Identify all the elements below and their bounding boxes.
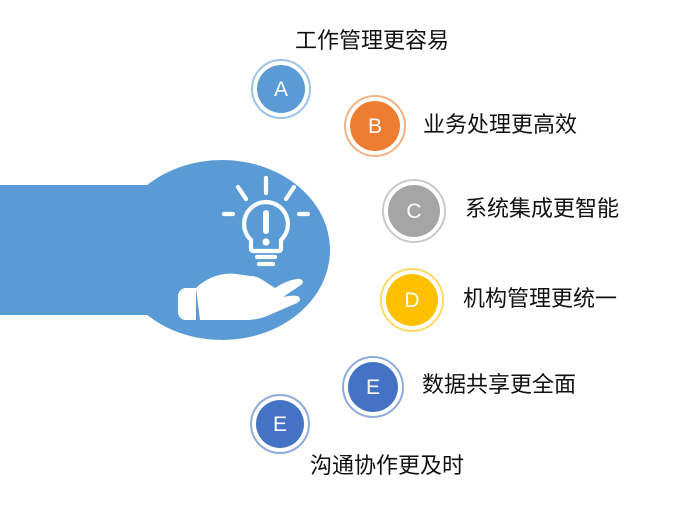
node-label-f: 沟通协作更及时 — [310, 455, 464, 477]
node-circle-e[interactable]: E — [348, 362, 398, 412]
node-label-d: 机构管理更统一 — [463, 288, 617, 310]
node-letter-a: A — [274, 79, 288, 100]
node-letter-c: C — [406, 201, 421, 222]
node-circle-c[interactable]: C — [388, 185, 440, 237]
node-label-b: 业务处理更高效 — [423, 114, 577, 136]
node-letter-f: E — [273, 414, 287, 435]
page-title: 产品优势 — [30, 392, 210, 421]
node-letter-d: D — [404, 290, 419, 311]
node-label-a: 工作管理更容易 — [295, 30, 449, 52]
node-circle-b[interactable]: B — [350, 101, 400, 151]
exclamation-mark-icon — [262, 210, 269, 246]
node-label-c: 系统集成更智能 — [465, 198, 619, 220]
product-advantage-banner: 产品优势 — [0, 160, 330, 340]
node-circle-a[interactable]: A — [257, 65, 305, 113]
node-letter-e: E — [366, 377, 380, 398]
node-letter-b: B — [368, 116, 382, 137]
node-circle-d[interactable]: D — [386, 274, 438, 326]
node-label-e: 数据共享更全面 — [422, 374, 576, 396]
node-circle-f[interactable]: E — [256, 400, 304, 448]
diagram-canvas: 产品优势 A 工作管理更容易 B 业务处理更高效 C 系统集成更智能 D 机构管… — [0, 0, 673, 515]
